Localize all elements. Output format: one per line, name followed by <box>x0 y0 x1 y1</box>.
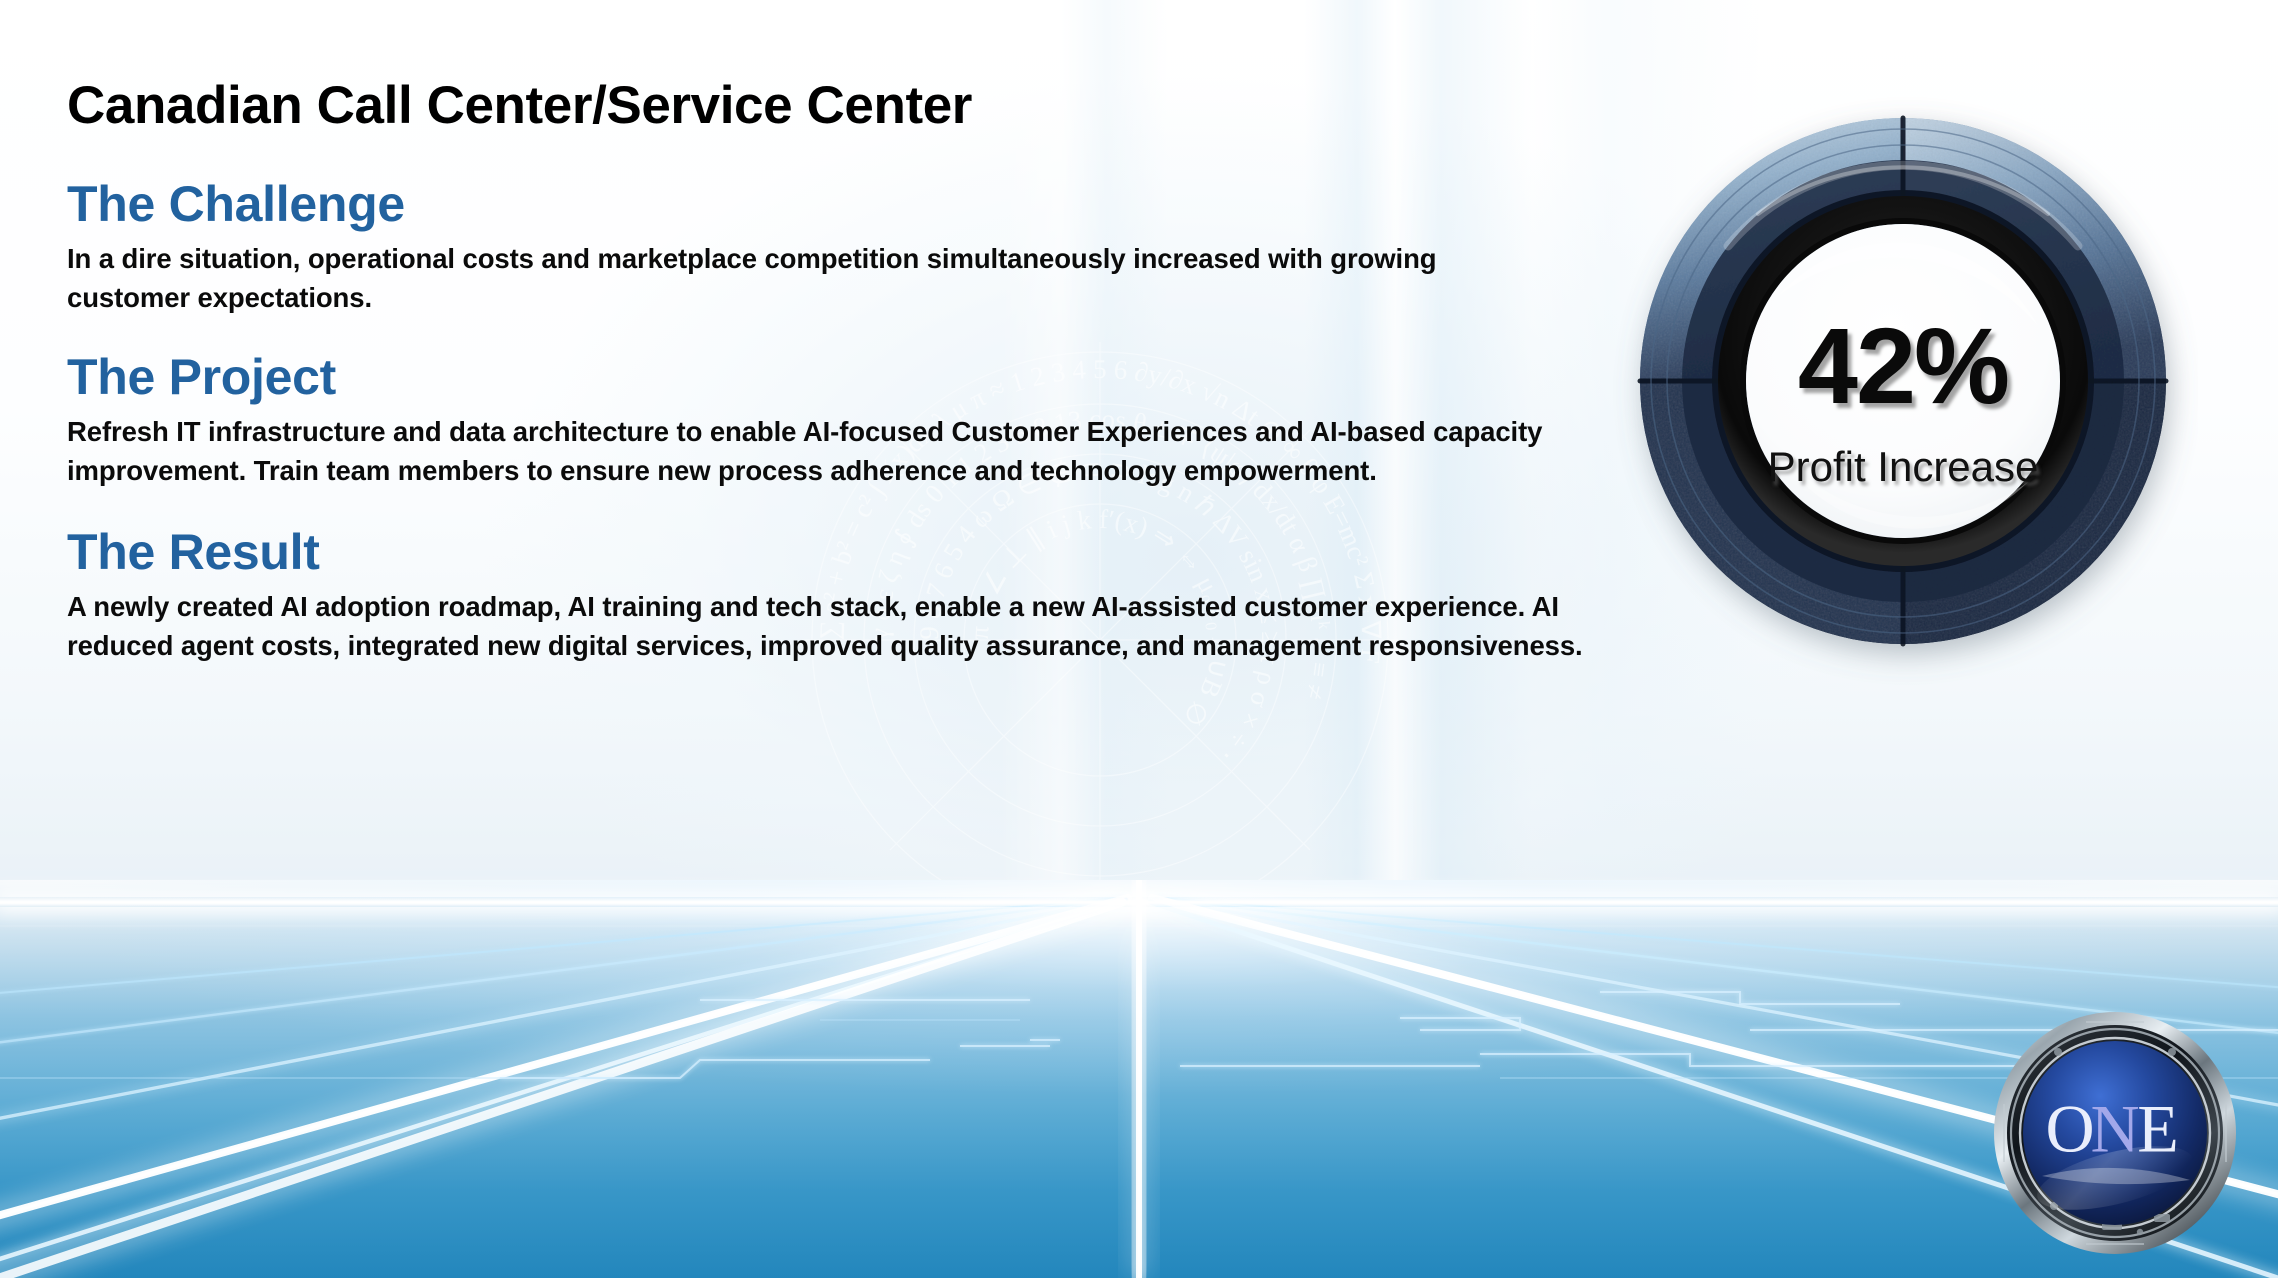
section-body-result: A newly created AI adoption roadmap, AI … <box>67 587 1627 666</box>
section-challenge: The Challenge In a dire situation, opera… <box>67 178 1657 317</box>
section-body-challenge: In a dire situation, operational costs a… <box>67 239 1507 318</box>
slide-canvas: ∑ a² + b² = c² ∫ f(x)dx λ μ π ≈ 1 2 3 4 … <box>0 0 2278 1278</box>
section-heading-result: The Result <box>67 526 1657 579</box>
logo-letter-n: N <box>2090 1091 2139 1167</box>
section-result: The Result A newly created AI adoption r… <box>67 526 1657 665</box>
logo-letter-o: O <box>2045 1091 2094 1167</box>
logo-letter-e: E <box>2137 1091 2179 1167</box>
section-body-project: Refresh IT infrastructure and data archi… <box>67 412 1557 491</box>
page-title: Canadian Call Center/Service Center <box>67 78 1657 134</box>
section-heading-project: The Project <box>67 351 1657 404</box>
horizon-glow-line <box>0 897 2278 907</box>
background-neon-highway <box>0 880 2278 1278</box>
section-heading-challenge: The Challenge <box>67 178 1657 231</box>
one-logo[interactable]: O N E <box>1990 1008 2240 1258</box>
slide-content: Canadian Call Center/Service Center The … <box>67 78 1657 688</box>
stat-ring-graphic: 42% Profit Increase <box>1608 96 2198 696</box>
section-project: The Project Refresh IT infrastructure an… <box>67 351 1657 490</box>
